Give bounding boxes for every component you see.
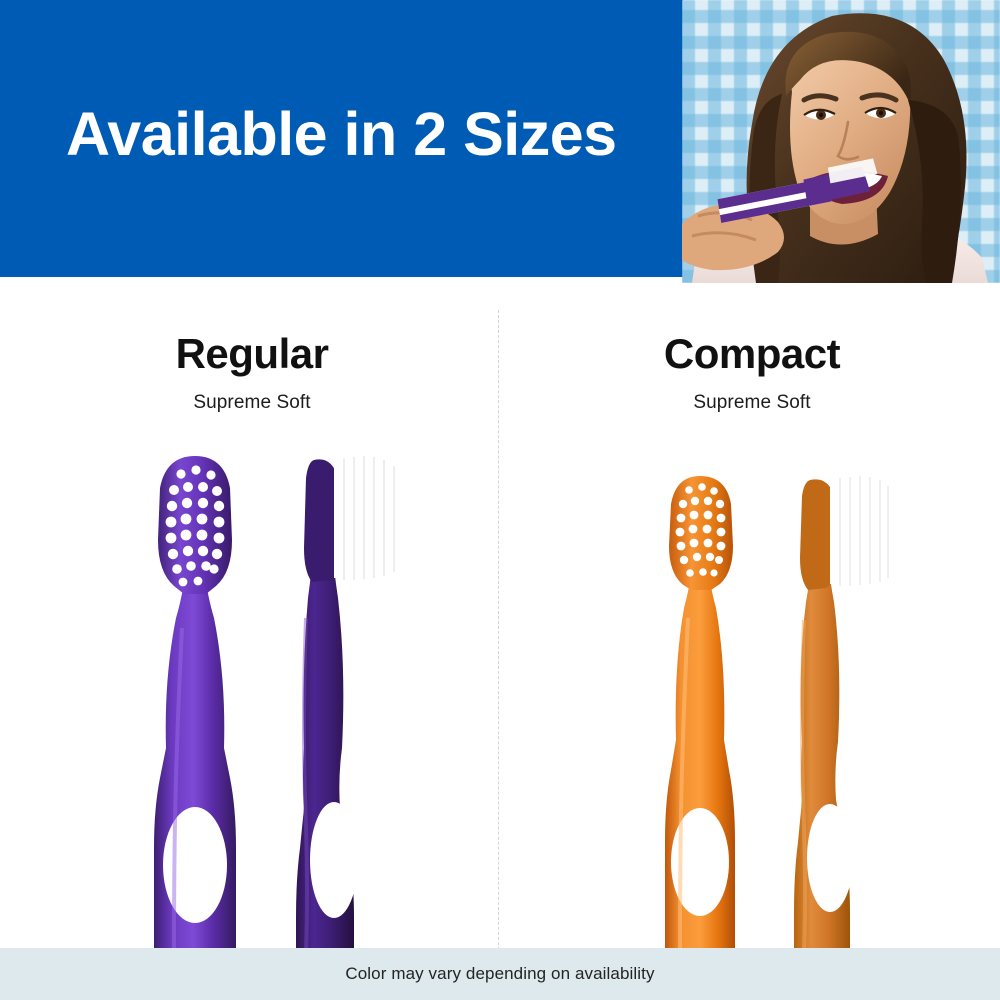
column-heading-compact: Compact Supreme Soft [552, 333, 952, 414]
toothbrush-compact-side-view [788, 470, 928, 952]
toothbrush-regular-top-view [120, 448, 270, 953]
photo-illustration [682, 0, 1000, 283]
column-subtitle-regular: Supreme Soft [52, 392, 452, 414]
footer-disclaimer-bar: Color may vary depending on availability [0, 948, 1000, 1000]
column-subtitle-compact: Supreme Soft [552, 392, 952, 414]
grip-pad [310, 802, 358, 918]
column-heading-regular: Regular Supreme Soft [52, 333, 452, 414]
product-sizes-infographic: Available in 2 Sizes [0, 0, 1000, 1000]
toothbrush-compact-top-view [632, 470, 772, 952]
grip-pad [807, 804, 853, 912]
column-divider [498, 310, 499, 950]
footer-disclaimer-text: Color may vary depending on availability [345, 964, 654, 984]
woman-brushing-teeth-photo [682, 0, 1000, 283]
hero-title: Available in 2 Sizes [66, 104, 666, 165]
column-title-compact: Compact [552, 333, 952, 375]
column-title-regular: Regular [52, 333, 452, 375]
toothbrush-regular-side-view [288, 448, 438, 953]
